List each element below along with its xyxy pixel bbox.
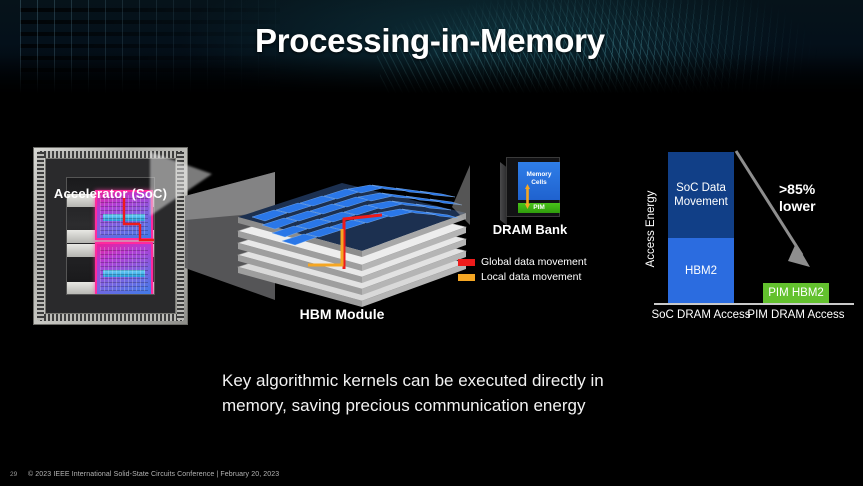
slide-caption: Key algorithmic kernels can be executed … — [222, 368, 642, 418]
chart-annotation-callout: >85% lower — [779, 181, 816, 215]
bar-soc-dram-access: SoC Data Movement HBM2 — [668, 152, 734, 303]
page-title: Processing-in-Memory — [255, 22, 605, 60]
chart-category-label-pim: PIM DRAM Access — [745, 308, 847, 322]
slide-footer: 29 © 2023 IEEE International Solid-State… — [0, 471, 863, 478]
chart-reduction-arrow — [730, 145, 863, 305]
dram-bank-image: Memory Cells PIM — [500, 157, 558, 219]
hbm-module-image — [230, 155, 470, 315]
footer-copyright: © 2023 IEEE International Solid-State Ci… — [28, 471, 279, 478]
legend-swatch-global-icon — [458, 259, 475, 266]
legend-item: Global data movement — [458, 256, 587, 268]
data-movement-legend: Global data movement Local data movement — [458, 256, 587, 286]
bar-segment-label-soc-data-movement: SoC Data Movement — [668, 181, 734, 209]
legend-item: Local data movement — [458, 271, 587, 283]
legend-swatch-local-icon — [458, 274, 475, 281]
banner-fade-overlay — [0, 54, 863, 96]
soc-pads-left — [37, 152, 44, 320]
access-energy-chart: Access Energy SoC Data Movement HBM2 SoC… — [634, 145, 856, 345]
bar-segment-soc-data-movement: SoC Data Movement — [668, 152, 734, 238]
hbm-module-label: HBM Module — [232, 306, 452, 322]
chart-annotation-line-2: lower — [779, 198, 816, 215]
legend-label-local: Local data movement — [481, 271, 581, 283]
dram-bank-front-face: Memory Cells PIM — [506, 157, 560, 217]
footer-page-number: 29 — [10, 471, 28, 478]
soc-pads-bottom — [38, 314, 183, 321]
bar-segment-hbm2: HBM2 — [668, 238, 734, 303]
slide-root: Processing-in-Memory — [0, 0, 863, 486]
chart-category-label-soc: SoC DRAM Access — [650, 308, 752, 322]
chart-annotation-line-1: >85% — [779, 181, 816, 198]
legend-label-global: Global data movement — [481, 256, 587, 268]
chart-y-axis-label: Access Energy — [645, 174, 657, 284]
bank-local-movement-arrow — [525, 184, 530, 209]
bar-segment-label-hbm2: HBM2 — [685, 264, 717, 278]
dram-bank-label: DRAM Bank — [468, 222, 592, 237]
